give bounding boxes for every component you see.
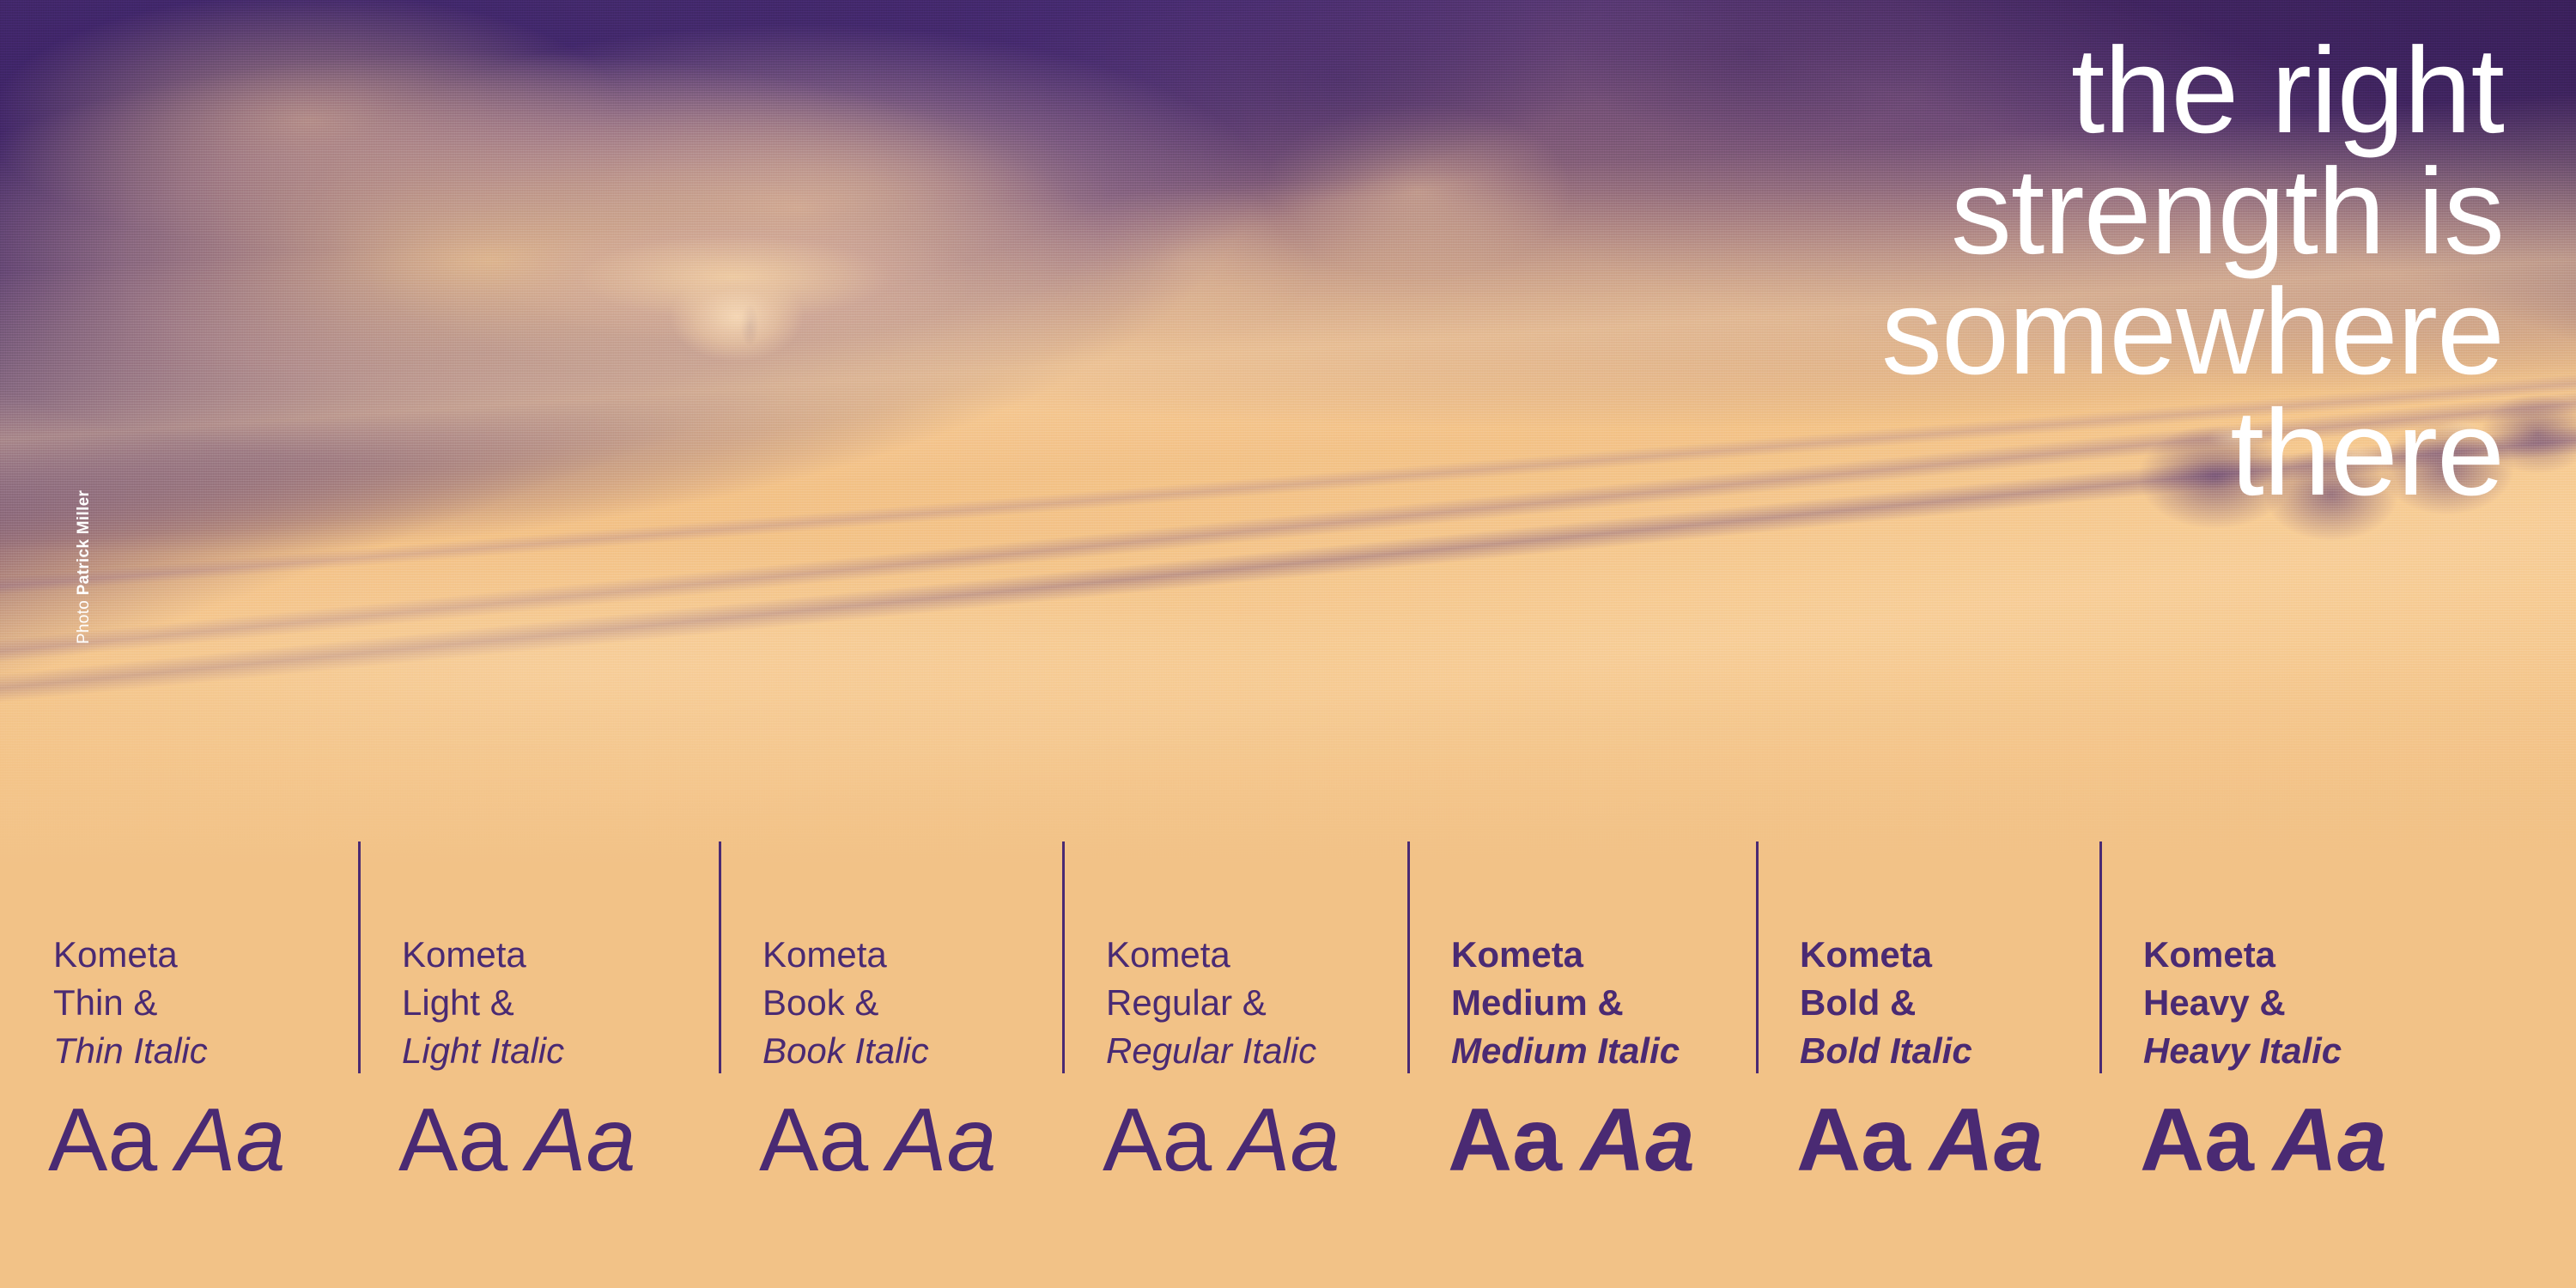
photo-credit-prefix: Photo [75, 595, 93, 644]
divider-mask [719, 1073, 721, 1288]
specimen-upright-heavy: Aa [2140, 1091, 2254, 1190]
weight-name-bold: Kometa Bold & [1800, 934, 1932, 1023]
weight-label-light: Kometa Light &Light Italic [402, 883, 564, 1122]
specimen-upright-book: Aa [759, 1091, 868, 1190]
divider-mask [2099, 1073, 2102, 1288]
weight-italic-book: Book Italic [762, 1027, 929, 1075]
weight-column-regular: Kometa Regular &Regular Italic AaAa [1062, 841, 1407, 1288]
weight-column-bold: Kometa Bold &Bold Italic AaAa [1756, 841, 2099, 1288]
weight-column-light: Kometa Light &Light Italic AaAa [358, 841, 719, 1288]
type-specimen-poster: the right strength is somewhere there Ph… [0, 0, 2576, 1288]
weight-column-thin: Kometa Thin &Thin Italic AaAa [0, 841, 358, 1288]
specimen-light: AaAa [398, 1096, 635, 1185]
weight-italic-thin: Thin Italic [53, 1027, 208, 1075]
weight-name-medium: Kometa Medium & [1451, 934, 1624, 1023]
weight-label-bold: Kometa Bold &Bold Italic [1800, 883, 1972, 1122]
headline: the right strength is somewhere there [872, 31, 2504, 513]
specimen-italic-light: Aa [526, 1091, 635, 1190]
divider-mask [1756, 1073, 1759, 1288]
specimen-italic-medium: Aa [1581, 1091, 1695, 1190]
weight-name-thin: Kometa Thin & [53, 934, 178, 1023]
weight-italic-bold: Bold Italic [1800, 1027, 1972, 1075]
photo-credit-name: Patrick Miller [75, 490, 93, 595]
weight-name-light: Kometa Light & [402, 934, 526, 1023]
specimen-upright-thin: Aa [48, 1091, 157, 1190]
specimen-italic-regular: Aa [1230, 1091, 1340, 1190]
specimen-upright-light: Aa [398, 1091, 507, 1190]
specimen-upright-bold: Aa [1796, 1091, 1911, 1190]
divider-mask [1407, 1073, 1410, 1288]
weight-name-book: Kometa Book & [762, 934, 887, 1023]
specimen-regular: AaAa [1103, 1096, 1340, 1185]
weight-italic-heavy: Heavy Italic [2143, 1027, 2342, 1075]
weight-column-heavy: Kometa Heavy &Heavy Italic AaAa [2099, 841, 2576, 1288]
specimen-italic-book: Aa [887, 1091, 996, 1190]
weight-label-heavy: Kometa Heavy &Heavy Italic [2143, 883, 2342, 1122]
weight-column-medium: Kometa Medium &Medium Italic AaAa [1407, 841, 1756, 1288]
specimen-italic-heavy: Aa [2273, 1091, 2387, 1190]
weight-columns: Kometa Thin &Thin Italic AaAa Kometa Lig… [0, 841, 2576, 1288]
weight-label-regular: Kometa Regular &Regular Italic [1106, 883, 1316, 1122]
weight-label-medium: Kometa Medium &Medium Italic [1451, 883, 1680, 1122]
weight-label-thin: Kometa Thin &Thin Italic [53, 883, 208, 1122]
weight-italic-medium: Medium Italic [1451, 1027, 1680, 1075]
divider-mask [1062, 1073, 1065, 1288]
specimen-medium: AaAa [1448, 1096, 1695, 1185]
specimen-upright-regular: Aa [1103, 1091, 1212, 1190]
specimen-upright-medium: Aa [1448, 1091, 1562, 1190]
photo-credit: Photo Patrick Miller [75, 490, 94, 644]
weight-italic-regular: Regular Italic [1106, 1027, 1316, 1075]
weight-column-book: Kometa Book &Book Italic AaAa [719, 841, 1062, 1288]
divider-mask [358, 1073, 361, 1288]
specimen-italic-thin: Aa [176, 1091, 285, 1190]
specimen-thin: AaAa [48, 1096, 285, 1185]
weight-name-regular: Kometa Regular & [1106, 934, 1267, 1023]
weight-name-heavy: Kometa Heavy & [2143, 934, 2286, 1023]
weight-italic-light: Light Italic [402, 1027, 564, 1075]
specimen-italic-bold: Aa [1929, 1091, 2044, 1190]
specimen-book: AaAa [759, 1096, 996, 1185]
specimen-bold: AaAa [1796, 1096, 2044, 1185]
weight-label-book: Kometa Book &Book Italic [762, 883, 929, 1122]
specimen-heavy: AaAa [2140, 1096, 2387, 1185]
